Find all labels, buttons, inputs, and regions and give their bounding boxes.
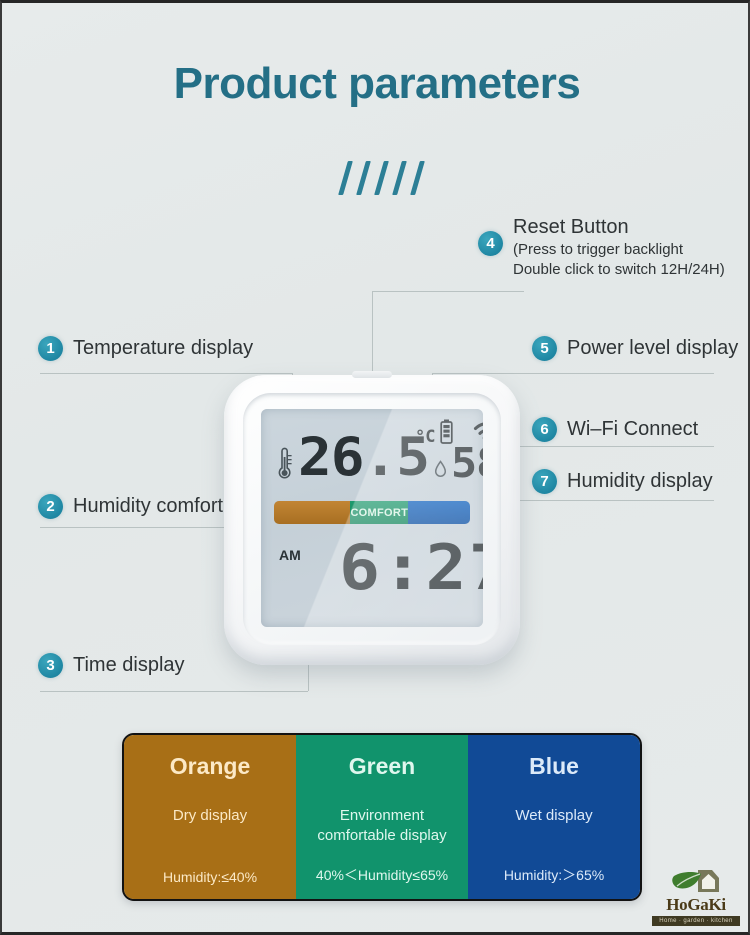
sensor-device: 26.5 °C [224, 375, 520, 665]
callout-7-humidity-display[interactable]: 7 Humidity display [532, 469, 713, 494]
device-bezel-inner: 26.5 °C [243, 393, 501, 645]
legend-desc-orange: Dry display [173, 806, 247, 869]
humidity-value: 58 [451, 439, 483, 487]
callout-label-6: Wi–Fi Connect [567, 417, 698, 442]
legend-desc-green-line2: comfortable display [317, 826, 446, 846]
legend-title-orange: Orange [170, 753, 251, 780]
callout-4-reset-button[interactable]: 4 Reset Button (Press to trigger backlig… [478, 215, 725, 281]
slash-mark [374, 161, 389, 195]
callout-label-1: Temperature display [73, 336, 253, 361]
legend-desc-green-line1: Environment [317, 806, 446, 826]
time-value: 6:27 [339, 531, 483, 604]
callout-badge-2: 2 [38, 494, 63, 519]
comfort-bar-green-segment: COMFORT [350, 501, 408, 524]
legend-title-blue: Blue [529, 753, 579, 780]
comfort-bar-blue-segment [408, 501, 470, 524]
callout-badge-6: 6 [532, 417, 557, 442]
callout-sub-4-line2: Double click to switch 12H/24H) [513, 260, 725, 280]
callout-label-5: Power level display [567, 336, 738, 361]
legend-desc-blue: Wet display [515, 806, 592, 865]
callout-sub-4-line1: (Press to trigger backlight [513, 240, 725, 260]
temperature-value: 26.5 [298, 427, 429, 488]
connector-line-4 [372, 291, 524, 292]
callout-label-3: Time display [73, 653, 185, 678]
callout-badge-1: 1 [38, 336, 63, 361]
callout-3-time-display[interactable]: 3 Time display [38, 653, 185, 678]
callout-5-power-level-display[interactable]: 5 Power level display [532, 336, 738, 361]
legend-range-orange: Humidity:≤40% [163, 869, 257, 885]
lcd-screen: 26.5 °C [261, 409, 483, 627]
legend-title-green: Green [349, 753, 415, 780]
comfort-label: COMFORT [350, 507, 408, 519]
page-title: Product parameters [2, 59, 750, 109]
callout-label-4: Reset Button [513, 215, 725, 240]
reset-button[interactable] [352, 371, 392, 378]
temperature-unit: °C [415, 427, 435, 447]
callout-badge-7: 7 [532, 469, 557, 494]
thermometer-icon [275, 447, 292, 486]
callout-label-2: Humidity comfort [73, 494, 223, 519]
legend-range-green: 40%＜Humidity≤65% [316, 865, 448, 885]
legend-column-green: Green Environment comfortable display 40… [296, 735, 468, 899]
callout-label-7: Humidity display [567, 469, 713, 494]
water-drop-icon [434, 460, 447, 483]
infographic-page: Product parameters 4 Reset Button (Press… [0, 0, 750, 935]
callout-badge-5: 5 [532, 336, 557, 361]
legend-range-blue: Humidity:＞65% [504, 865, 604, 885]
slash-decoration [2, 161, 750, 195]
legend-column-blue: Blue Wet display Humidity:＞65% [468, 735, 640, 899]
connector-line-3 [40, 691, 308, 692]
callout-2-humidity-comfort[interactable]: 2 Humidity comfort [38, 494, 223, 519]
humidity-color-legend: Orange Dry display Humidity:≤40% Green E… [122, 733, 642, 901]
slash-mark [410, 161, 425, 195]
slash-mark [338, 161, 353, 195]
humidity-comfort-bar: COMFORT [274, 501, 470, 524]
slash-mark [356, 161, 371, 195]
connector-line-4-v [372, 291, 373, 381]
legend-column-orange: Orange Dry display Humidity:≤40% [124, 735, 296, 899]
meridiem-indicator: AM [279, 547, 301, 563]
comfort-bar-orange-segment [274, 501, 350, 524]
connector-line-5 [432, 373, 714, 374]
callout-1-temperature-display[interactable]: 1 Temperature display [38, 336, 253, 361]
brand-logo: HoGaKi Home · garden · kitchen [652, 867, 740, 926]
connector-line-1 [40, 373, 292, 374]
leaf-house-icon [668, 867, 724, 895]
callout-badge-3: 3 [38, 653, 63, 678]
callout-badge-4: 4 [478, 231, 503, 256]
logo-name: HoGaKi [652, 895, 740, 915]
lcd-readout-row: 26.5 °C [261, 415, 483, 489]
callout-6-wifi-connect[interactable]: 6 Wi–Fi Connect [532, 417, 698, 442]
logo-tagline: Home · garden · kitchen [652, 916, 740, 926]
slash-mark [392, 161, 407, 195]
legend-desc-green: Environment comfortable display [317, 806, 446, 865]
